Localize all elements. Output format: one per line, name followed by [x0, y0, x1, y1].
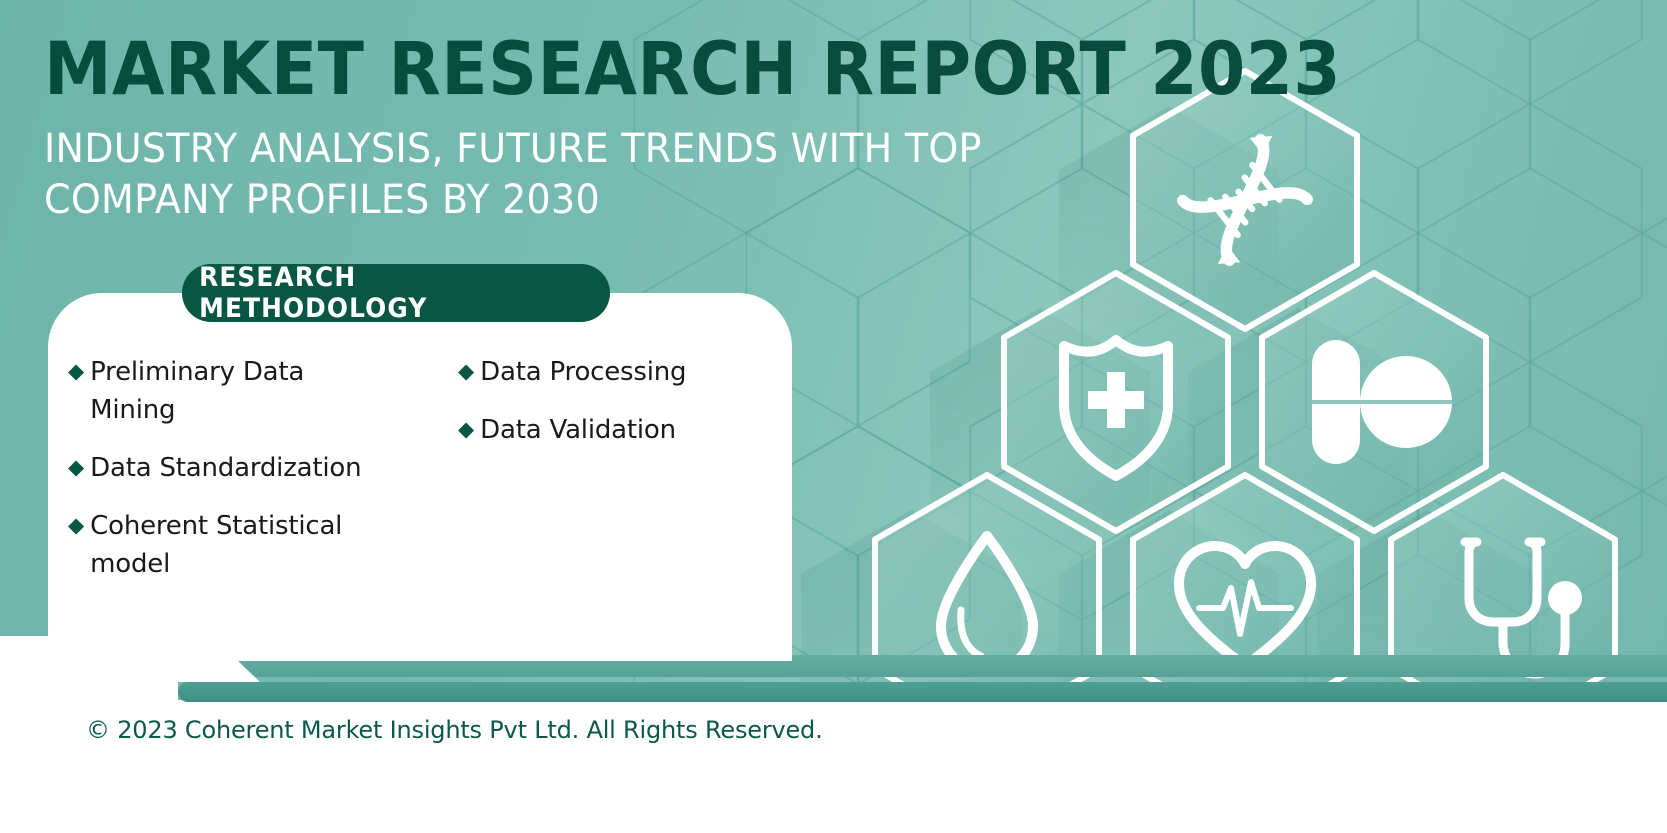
list-item-label: Data Standardization — [90, 449, 361, 487]
copyright-notice: © 2023 Coherent Market Insights Pvt Ltd.… — [86, 716, 823, 744]
headline-block: MARKET RESEARCH REPORT 2023 INDUSTRY ANA… — [44, 28, 1064, 226]
page-subtitle: INDUSTRY ANALYSIS, FUTURE TRENDS WITH TO… — [44, 124, 1013, 226]
page-subtitle-line-1: INDUSTRY ANALYSIS, FUTURE TRENDS WITH TO… — [44, 124, 1013, 175]
list-item-label: Data Validation — [480, 411, 676, 449]
diamond-bullet-icon: ◆ — [458, 353, 474, 391]
list-item-label: Preliminary Data Mining — [90, 353, 380, 429]
diamond-bullet-icon: ◆ — [68, 507, 84, 545]
page-subtitle-line-2: COMPANY PROFILES BY 2030 — [44, 175, 1013, 226]
list-item-label: Coherent Statistical model — [90, 507, 380, 583]
list-item: ◆ Coherent Statistical model — [68, 507, 458, 583]
list-item: ◆ Data Processing — [458, 353, 788, 391]
list-item: ◆ Data Validation — [458, 411, 788, 449]
diamond-bullet-icon: ◆ — [458, 411, 474, 449]
list-item-label: Data Processing — [480, 353, 686, 391]
list-item: ◆ Data Standardization — [68, 449, 458, 487]
methodology-column-left: ◆ Preliminary Data Mining ◆ Data Standar… — [48, 345, 458, 645]
methodology-badge: RESEARCH METHODOLOGY — [182, 264, 610, 322]
diamond-bullet-icon: ◆ — [68, 449, 84, 487]
methodology-badge-label: RESEARCH METHODOLOGY — [199, 262, 593, 324]
methodology-list: ◆ Preliminary Data Mining ◆ Data Standar… — [48, 345, 792, 645]
report-banner: MARKET RESEARCH REPORT 2023 INDUSTRY ANA… — [0, 0, 1667, 833]
list-item: ◆ Preliminary Data Mining — [68, 353, 458, 429]
bottom-band-accent — [178, 682, 1667, 702]
page-title: MARKET RESEARCH REPORT 2023 — [44, 28, 993, 112]
methodology-column-right: ◆ Data Processing ◆ Data Validation — [458, 345, 788, 645]
diamond-bullet-icon: ◆ — [68, 353, 84, 391]
